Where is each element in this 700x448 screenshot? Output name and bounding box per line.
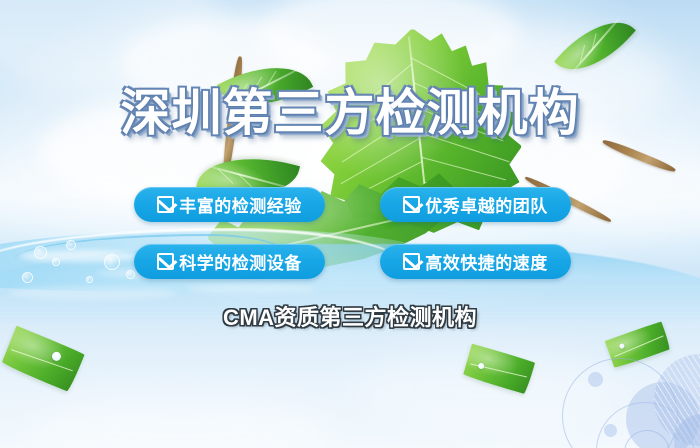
page-subtitle: CMA资质第三方检测机构 [0, 300, 700, 332]
feature-pill-label: 科学的检测设备 [179, 249, 302, 274]
feature-pill-rich-experience[interactable]: 丰富的检测经验 [134, 187, 325, 222]
feature-pill-label: 丰富的检测经验 [179, 192, 302, 217]
feature-pill-excellent-team[interactable]: 优秀卓越的团队 [380, 187, 571, 222]
page-title: 深圳第三方检测机构 [0, 88, 700, 138]
checkbox-checked-icon [157, 253, 174, 270]
feature-pill-group: 丰富的检测经验 优秀卓越的团队 科学的检测设备 高效快捷的速度 [0, 187, 700, 279]
promotional-banner: 深圳第三方检测机构 丰富的检测经验 优秀卓越的团队 科学的检测设备 高效快捷的速… [0, 0, 700, 448]
feature-pill-label: 优秀卓越的团队 [425, 192, 548, 217]
checkbox-checked-icon [403, 253, 420, 270]
checkbox-checked-icon [403, 196, 420, 213]
checkbox-checked-icon [157, 196, 174, 213]
feature-pill-scientific-equipment[interactable]: 科学的检测设备 [134, 244, 325, 279]
feature-pill-fast-speed[interactable]: 高效快捷的速度 [380, 244, 571, 279]
feature-pill-label: 高效快捷的速度 [425, 249, 548, 274]
